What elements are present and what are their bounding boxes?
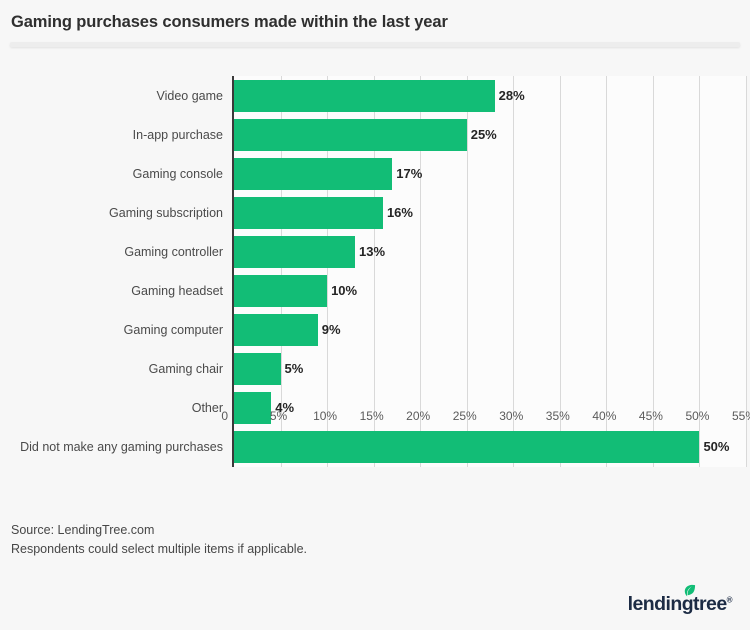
x-axis-tick-label: 25% xyxy=(453,409,477,423)
leaf-icon xyxy=(683,584,696,598)
x-axis-tick-label: 45% xyxy=(639,409,663,423)
methodology-note: Respondents could select multiple items … xyxy=(11,540,307,559)
x-axis-tick-label: 10% xyxy=(313,409,337,423)
source-note: Source: LendingTree.com xyxy=(11,521,307,540)
bar xyxy=(234,119,467,151)
page-title: Gaming purchases consumers made within t… xyxy=(11,13,448,32)
bar-row: Gaming chair5% xyxy=(234,350,746,389)
bar-value-label: 17% xyxy=(392,158,422,190)
category-label: Gaming controller xyxy=(124,236,223,268)
bar-row: Gaming headset10% xyxy=(234,272,746,311)
footnotes: Source: LendingTree.com Respondents coul… xyxy=(11,521,307,559)
category-label: Video game xyxy=(157,80,224,112)
x-axis-tick-label: 20% xyxy=(406,409,430,423)
bar-value-label: 16% xyxy=(383,197,413,229)
x-axis-tick-label: 50% xyxy=(685,409,709,423)
bar xyxy=(234,314,318,346)
bar-value-label: 10% xyxy=(327,275,357,307)
bar xyxy=(234,80,495,112)
bar-value-label: 50% xyxy=(699,431,729,463)
bar-value-label: 13% xyxy=(355,236,385,268)
bar xyxy=(234,275,327,307)
category-label: In-app purchase xyxy=(133,119,223,151)
category-label: Gaming computer xyxy=(124,314,223,346)
logo-trademark: ® xyxy=(727,595,732,604)
bar-value-label: 5% xyxy=(281,353,304,385)
bar xyxy=(234,158,392,190)
chart-page: Gaming purchases consumers made within t… xyxy=(0,0,750,630)
bar-row: Gaming computer9% xyxy=(234,311,746,350)
bar xyxy=(234,236,355,268)
bar-row: Gaming console17% xyxy=(234,154,746,193)
bar-row: Gaming controller13% xyxy=(234,232,746,271)
category-label: Did not make any gaming purchases xyxy=(20,431,223,463)
x-axis-tick-label: 35% xyxy=(546,409,570,423)
x-axis: 05%10%15%20%25%30%35%40%45%50%55% xyxy=(232,405,744,431)
bar xyxy=(234,431,699,463)
bar xyxy=(234,353,281,385)
x-axis-tick-label: 40% xyxy=(592,409,616,423)
x-axis-tick-label: 55% xyxy=(732,409,750,423)
header-divider xyxy=(10,42,740,47)
x-axis-tick-label: 5% xyxy=(270,409,287,423)
bar-row: Did not make any gaming purchases50% xyxy=(234,428,746,467)
bar-row: In-app purchase25% xyxy=(234,115,746,154)
bar xyxy=(234,197,383,229)
x-axis-tick-label: 15% xyxy=(360,409,384,423)
logo-name: lendingtree xyxy=(628,593,727,615)
bar-row: Video game28% xyxy=(234,76,746,115)
x-axis-tick-label: 0 xyxy=(221,409,228,423)
bar-value-label: 28% xyxy=(495,80,525,112)
category-label: Gaming chair xyxy=(149,353,223,385)
lendingtree-logo: lendingtree® xyxy=(628,584,732,614)
category-label: Other xyxy=(192,392,223,424)
bar-row: Gaming subscription16% xyxy=(234,193,746,232)
x-axis-tick-label: 30% xyxy=(499,409,523,423)
category-label: Gaming headset xyxy=(131,275,223,307)
logo-wordmark: lendingtree® xyxy=(628,595,732,615)
category-label: Gaming console xyxy=(133,158,223,190)
category-label: Gaming subscription xyxy=(109,197,223,229)
bar-value-label: 25% xyxy=(467,119,497,151)
bar-value-label: 9% xyxy=(318,314,341,346)
